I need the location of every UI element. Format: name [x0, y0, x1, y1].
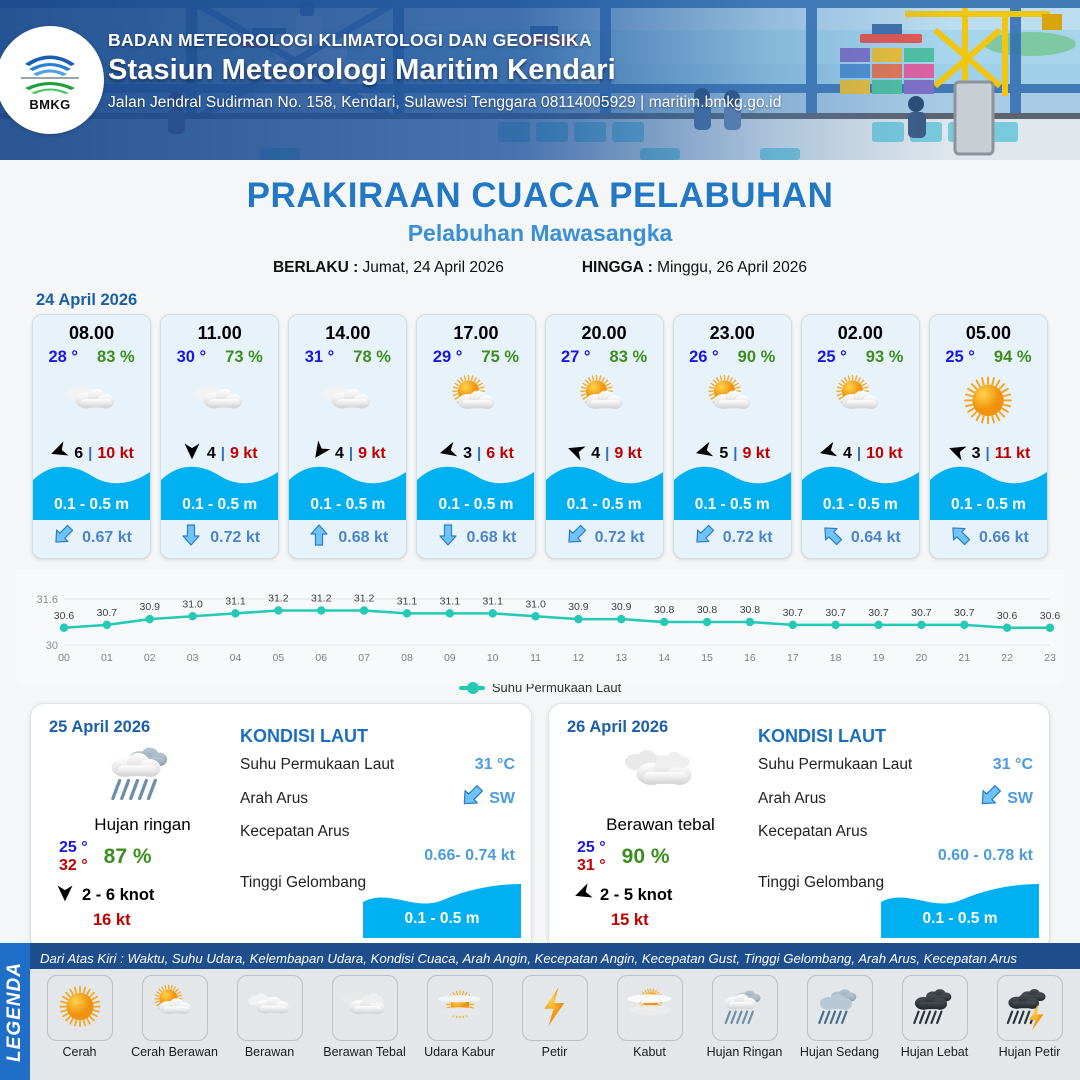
- weather-icon-berawan: [33, 371, 150, 433]
- hourly-card: 02.00 25 ° 93 % 4 | 10 kt 0.1 - 0.5 m 0.…: [801, 314, 920, 559]
- svg-text:30.6: 30.6: [54, 610, 75, 622]
- hourly-card: 20.00 27 ° 83 % 4 | 9 kt 0.1 - 0.5 m 0.7…: [545, 314, 664, 559]
- legend-item: Berawan Tebal: [319, 975, 410, 1059]
- card-time: 23.00: [674, 323, 791, 344]
- wave-label: Tinggi Gelombang: [240, 874, 366, 892]
- current-direction-label: Arah Arus: [240, 790, 308, 808]
- legend-item: Hujan Lebat: [889, 975, 980, 1059]
- svg-text:30.9: 30.9: [140, 601, 161, 613]
- svg-text:31.0: 31.0: [182, 598, 203, 610]
- svg-text:23: 23: [1044, 652, 1056, 664]
- card-humidity: 78 %: [353, 348, 391, 367]
- sst-label: Suhu Permukaan Laut: [240, 756, 394, 774]
- legend-icon-udara-kabur: [427, 975, 493, 1041]
- card-temperature: 27 °: [561, 348, 591, 367]
- card-temp-hum: 29 ° 75 %: [417, 348, 534, 367]
- card-temperature: 25 °: [817, 348, 847, 367]
- current-speed: 0.72 kt: [595, 529, 645, 547]
- legend-side-title: LEGENDA: [4, 962, 26, 1062]
- svg-text:31.2: 31.2: [311, 593, 332, 605]
- current-direction-row: Arah Arus SW: [240, 783, 515, 814]
- svg-text:30.9: 30.9: [568, 601, 589, 613]
- weather-icon-hujan-ringan: [49, 739, 236, 811]
- wind-direction-arrow-icon: [573, 883, 593, 908]
- svg-text:16: 16: [744, 652, 756, 664]
- daily-temps: 25 ° 32 ° 87 %: [49, 839, 236, 875]
- station-address: Jalan Jendral Sudirman No. 158, Kendari,…: [108, 94, 781, 112]
- svg-text:03: 03: [187, 652, 199, 664]
- card-temp-hum: 31 ° 78 %: [289, 348, 406, 367]
- sst-row: Suhu Permukaan Laut 31 °C: [758, 756, 1033, 774]
- legend-footer: LEGENDA Dari Atas Kiri : Waktu, Suhu Uda…: [0, 943, 1080, 1080]
- header-text-block: BADAN METEOROLOGI KLIMATOLOGI DAN GEOFIS…: [108, 30, 781, 112]
- valid-to-value: Minggu, 26 April 2026: [657, 259, 807, 276]
- current-direction-arrow-icon: [692, 523, 716, 552]
- wave-height: 0.1 - 0.5 m: [33, 496, 150, 514]
- svg-text:30.6: 30.6: [1040, 610, 1061, 622]
- card-time: 02.00: [802, 323, 919, 344]
- daily-right: KONDISI LAUT Suhu Permukaan Laut 31 °C A…: [754, 704, 1049, 950]
- legend-item-label: Hujan Petir: [999, 1045, 1061, 1059]
- card-humidity: 83 %: [97, 348, 135, 367]
- bmkg-logo-text: BMKG: [29, 97, 70, 112]
- sst-value: 31 °C: [475, 756, 515, 774]
- legend-item: Cerah Berawan: [129, 975, 220, 1059]
- legend-icon-cerah-berawan: [142, 975, 208, 1041]
- card-current: 0.72 kt: [546, 523, 663, 552]
- svg-text:10: 10: [487, 652, 499, 664]
- current-direction-arrow-icon: [51, 523, 75, 552]
- current-speed: 0.68 kt: [467, 529, 517, 547]
- card-time: 08.00: [33, 323, 150, 344]
- svg-text:11: 11: [530, 652, 541, 664]
- bmkg-logo-mark: [19, 48, 81, 94]
- daily-left: 26 April 2026 Berawan tebal 25 ° 31 ° 90…: [549, 704, 754, 950]
- hourly-card: 14.00 31 ° 78 % 4 | 9 kt 0.1 - 0.5 m 0.6…: [288, 314, 407, 559]
- card-humidity: 83 %: [610, 348, 648, 367]
- card-current: 0.66 kt: [930, 523, 1047, 552]
- legend-item: Hujan Ringan: [699, 975, 790, 1059]
- daily-left: 25 April 2026 Hujan ringan 25 ° 32 ° 87 …: [31, 704, 236, 950]
- svg-text:30.9: 30.9: [611, 601, 632, 613]
- current-direction-value-group: SW: [459, 783, 515, 814]
- card-humidity: 90 %: [738, 348, 776, 367]
- legend-item-label: Berawan: [245, 1045, 294, 1059]
- daily-forecast-panel: 26 April 2026 Berawan tebal 25 ° 31 ° 90…: [548, 703, 1050, 951]
- current-speed: 0.68 kt: [338, 529, 388, 547]
- svg-text:04: 04: [230, 652, 242, 664]
- svg-text:31.2: 31.2: [354, 593, 375, 605]
- page-title: PRAKIRAAN CUACA PELABUHAN: [0, 176, 1080, 216]
- current-direction-arrow-icon: [436, 523, 460, 552]
- daily-gust: 15 kt: [567, 911, 754, 930]
- card-humidity: 75 %: [481, 348, 519, 367]
- daily-temp-min: 25 °: [59, 839, 88, 857]
- current-direction-value: SW: [489, 790, 515, 808]
- hourly-card: 05.00 25 ° 94 % 3 | 11 kt 0.1 - 0.5 m 0.…: [929, 314, 1048, 559]
- svg-text:30.8: 30.8: [697, 604, 718, 616]
- card-temp-hum: 26 ° 90 %: [674, 348, 791, 367]
- wave-height: 0.1 - 0.5 m: [881, 910, 1039, 928]
- hourly-card: 17.00 29 ° 75 % 3 | 6 kt 0.1 - 0.5 m 0.6…: [416, 314, 535, 559]
- svg-text:00: 00: [58, 652, 70, 664]
- svg-text:30.7: 30.7: [868, 607, 889, 619]
- legend-icon-cerah: [47, 975, 113, 1041]
- current-direction-label: Arah Arus: [758, 790, 826, 808]
- legend-icon-hujan-lebat: [902, 975, 968, 1041]
- current-direction-arrow-icon: [179, 523, 203, 552]
- current-direction-arrow-icon: [307, 523, 331, 552]
- svg-text:13: 13: [615, 652, 627, 664]
- daily-date: 25 April 2026: [49, 718, 236, 737]
- svg-text:12: 12: [573, 652, 585, 664]
- legend-item-label: Hujan Lebat: [901, 1045, 968, 1059]
- daily-gust: 16 kt: [49, 911, 236, 930]
- current-direction-value-group: SW: [977, 783, 1033, 814]
- page-subtitle: Pelabuhan Mawasangka: [0, 220, 1080, 247]
- svg-text:31.1: 31.1: [397, 595, 418, 607]
- wave-height: 0.1 - 0.5 m: [417, 496, 534, 514]
- legend-item: Cerah: [34, 975, 125, 1059]
- legend-icon-berawan-tebal: [332, 975, 398, 1041]
- weather-icon-cerah-berawan: [546, 371, 663, 433]
- card-temp-hum: 25 ° 94 %: [930, 348, 1047, 367]
- weather-icon-cerah-berawan: [674, 371, 791, 433]
- card-time: 11.00: [161, 323, 278, 344]
- sst-value: 31 °C: [993, 756, 1033, 774]
- svg-text:19: 19: [873, 652, 885, 664]
- svg-text:01: 01: [101, 652, 113, 664]
- svg-text:06: 06: [315, 652, 327, 664]
- svg-text:05: 05: [273, 652, 285, 664]
- daily-temp-col: 25 ° 32 °: [59, 839, 88, 875]
- sst-chart-svg: 31.63030.60030.70130.90231.00331.10431.2…: [16, 569, 1064, 669]
- wave-height: 0.1 - 0.5 m: [363, 910, 521, 928]
- legend-item-label: Berawan Tebal: [323, 1045, 405, 1059]
- daily-wind-range: 2 - 5 knot: [600, 886, 672, 905]
- card-time: 20.00: [546, 323, 663, 344]
- legend-icon-kabut: [617, 975, 683, 1041]
- wave-height: 0.1 - 0.5 m: [289, 496, 406, 514]
- legend-item-label: Kabut: [633, 1045, 666, 1059]
- daily-wind-range: 2 - 6 knot: [82, 886, 154, 905]
- svg-text:30.7: 30.7: [825, 607, 846, 619]
- daily-forecast-row: 25 April 2026 Hujan ringan 25 ° 32 ° 87 …: [0, 695, 1080, 951]
- card-temperature: 31 °: [305, 348, 335, 367]
- svg-text:09: 09: [444, 652, 456, 664]
- current-speed: 0.66 kt: [979, 529, 1029, 547]
- legend-item-label: Cerah: [62, 1045, 96, 1059]
- wave-height: 0.1 - 0.5 m: [802, 496, 919, 514]
- title-section: PRAKIRAAN CUACA PELABUHAN Pelabuhan Mawa…: [0, 160, 1080, 277]
- legend-icon-hujan-ringan: [712, 975, 778, 1041]
- legend-item: Berawan: [224, 975, 315, 1059]
- sst-row: Suhu Permukaan Laut 31 °C: [240, 756, 515, 774]
- svg-text:31.1: 31.1: [482, 595, 503, 607]
- legend-side-bar: LEGENDA: [0, 943, 30, 1080]
- daily-temp-max: 32 °: [59, 857, 88, 875]
- wind-direction-arrow-icon: [55, 883, 75, 908]
- current-speed-row: Kecepatan Arus: [758, 823, 1033, 841]
- card-temperature: 26 °: [689, 348, 719, 367]
- daily-condition: Hujan ringan: [49, 815, 236, 835]
- svg-text:17: 17: [787, 652, 799, 664]
- legend-items: Cerah Cerah Berawan Berawan Berawan Teba…: [34, 975, 1080, 1059]
- sst-chart: 31.63030.60030.70130.90231.00331.10431.2…: [16, 569, 1064, 684]
- agency-name: BADAN METEOROLOGI KLIMATOLOGI DAN GEOFIS…: [108, 30, 781, 51]
- card-current: 0.68 kt: [289, 523, 406, 552]
- current-speed-value: 0.66- 0.74 kt: [240, 847, 515, 865]
- sea-condition-heading: KONDISI LAUT: [758, 726, 1033, 747]
- sst-label: Suhu Permukaan Laut: [758, 756, 912, 774]
- svg-text:30.8: 30.8: [740, 604, 761, 616]
- weather-icon-cerah-berawan: [417, 371, 534, 433]
- current-speed-label: Kecepatan Arus: [240, 823, 349, 841]
- wave-height: 0.1 - 0.5 m: [546, 496, 663, 514]
- card-temp-hum: 25 ° 93 %: [802, 348, 919, 367]
- daily-temp-col: 25 ° 31 °: [577, 839, 606, 875]
- valid-to-label: HINGGA :: [582, 259, 653, 276]
- current-direction-arrow-icon: [564, 523, 588, 552]
- sea-condition-heading: KONDISI LAUT: [240, 726, 515, 747]
- current-speed: 0.72 kt: [723, 529, 773, 547]
- card-temperature: 25 °: [945, 348, 975, 367]
- card-humidity: 94 %: [994, 348, 1032, 367]
- daily-temp-min: 25 °: [577, 839, 606, 857]
- current-direction-arrow-icon: [977, 783, 1003, 814]
- current-direction-arrow-icon: [948, 523, 972, 552]
- station-name: Stasiun Meteorologi Maritim Kendari: [108, 54, 781, 87]
- daily-wind: 2 - 5 knot: [567, 883, 754, 908]
- card-time: 14.00: [289, 323, 406, 344]
- current-direction-value: SW: [1007, 790, 1033, 808]
- card-current: 0.72 kt: [674, 523, 791, 552]
- card-temperature: 29 °: [433, 348, 463, 367]
- current-speed-value: 0.60 - 0.78 kt: [758, 847, 1033, 865]
- current-speed-row: Kecepatan Arus: [240, 823, 515, 841]
- wave-height: 0.1 - 0.5 m: [674, 496, 791, 514]
- card-current: 0.64 kt: [802, 523, 919, 552]
- card-temperature: 28 °: [48, 348, 78, 367]
- weather-icon-berawan: [289, 371, 406, 433]
- hourly-forecast-row: 08.00 28 ° 83 % 6 | 10 kt 0.1 - 0.5 m 0.…: [0, 314, 1080, 559]
- svg-text:31.1: 31.1: [225, 595, 246, 607]
- card-time: 17.00: [417, 323, 534, 344]
- card-current: 0.72 kt: [161, 523, 278, 552]
- daily-forecast-panel: 25 April 2026 Hujan ringan 25 ° 32 ° 87 …: [30, 703, 532, 951]
- weather-icon-cerah-berawan: [802, 371, 919, 433]
- svg-text:30: 30: [46, 640, 58, 652]
- daily-temps: 25 ° 31 ° 90 %: [567, 839, 754, 875]
- daily-temp-max: 31 °: [577, 857, 606, 875]
- legend-item-label: Udara Kabur: [424, 1045, 495, 1059]
- svg-text:31.1: 31.1: [440, 595, 461, 607]
- svg-text:08: 08: [401, 652, 413, 664]
- hourly-date-label: 24 April 2026: [36, 291, 1080, 310]
- legend-icon-berawan: [237, 975, 303, 1041]
- card-humidity: 73 %: [225, 348, 263, 367]
- hourly-card: 23.00 26 ° 90 % 5 | 9 kt 0.1 - 0.5 m 0.7…: [673, 314, 792, 559]
- legend-note: Dari Atas Kiri : Waktu, Suhu Udara, Kele…: [40, 951, 1074, 966]
- card-current: 0.68 kt: [417, 523, 534, 552]
- valid-from-value: Jumat, 24 April 2026: [363, 259, 504, 276]
- valid-to: HINGGA : Minggu, 26 April 2026: [582, 259, 807, 277]
- svg-text:07: 07: [358, 652, 370, 664]
- legend-item: Hujan Petir: [984, 975, 1075, 1059]
- current-speed-label: Kecepatan Arus: [758, 823, 867, 841]
- svg-text:02: 02: [144, 652, 156, 664]
- wave-height: 0.1 - 0.5 m: [161, 496, 278, 514]
- legend-icon-petir: [522, 975, 588, 1041]
- valid-from-label: BERLAKU :: [273, 259, 358, 276]
- card-temp-hum: 27 ° 83 %: [546, 348, 663, 367]
- card-current: 0.67 kt: [33, 523, 150, 552]
- svg-text:30.7: 30.7: [911, 607, 932, 619]
- chart-legend-marker: [459, 686, 485, 690]
- card-humidity: 93 %: [866, 348, 904, 367]
- wave-label: Tinggi Gelombang: [758, 874, 884, 892]
- daily-date: 26 April 2026: [567, 718, 754, 737]
- svg-text:30.7: 30.7: [783, 607, 804, 619]
- card-temperature: 30 °: [177, 348, 207, 367]
- card-temp-hum: 30 ° 73 %: [161, 348, 278, 367]
- svg-text:30.7: 30.7: [97, 607, 118, 619]
- daily-humidity: 90 %: [622, 845, 670, 869]
- hourly-card: 11.00 30 ° 73 % 4 | 9 kt 0.1 - 0.5 m 0.7…: [160, 314, 279, 559]
- weather-icon-cerah: [930, 371, 1047, 433]
- validity-row: BERLAKU : Jumat, 24 April 2026 HINGGA : …: [0, 259, 1080, 277]
- legend-icon-hujan-petir: [997, 975, 1063, 1041]
- legend-item: Udara Kabur: [414, 975, 505, 1059]
- current-speed: 0.67 kt: [82, 529, 132, 547]
- legend-item-label: Hujan Sedang: [800, 1045, 879, 1059]
- svg-text:18: 18: [830, 652, 842, 664]
- svg-text:22: 22: [1001, 652, 1013, 664]
- current-speed: 0.72 kt: [210, 529, 260, 547]
- card-time: 05.00: [930, 323, 1047, 344]
- svg-text:31.0: 31.0: [525, 598, 546, 610]
- svg-text:14: 14: [658, 652, 670, 664]
- legend-item-label: Petir: [542, 1045, 568, 1059]
- wave-height: 0.1 - 0.5 m: [930, 496, 1047, 514]
- daily-wind: 2 - 6 knot: [49, 883, 236, 908]
- hourly-card: 08.00 28 ° 83 % 6 | 10 kt 0.1 - 0.5 m 0.…: [32, 314, 151, 559]
- svg-text:20: 20: [916, 652, 928, 664]
- legend-icon-hujan-sedang: [807, 975, 873, 1041]
- daily-right: KONDISI LAUT Suhu Permukaan Laut 31 °C A…: [236, 704, 531, 950]
- bmkg-logo: BMKG: [0, 26, 104, 134]
- daily-condition: Berawan tebal: [567, 815, 754, 835]
- legend-item-label: Hujan Ringan: [707, 1045, 783, 1059]
- card-temp-hum: 28 ° 83 %: [33, 348, 150, 367]
- svg-text:15: 15: [701, 652, 713, 664]
- svg-text:31.6: 31.6: [37, 594, 58, 606]
- weather-icon-berawan: [161, 371, 278, 433]
- current-direction-row: Arah Arus SW: [758, 783, 1033, 814]
- svg-text:31.2: 31.2: [268, 593, 289, 605]
- svg-text:30.6: 30.6: [997, 610, 1018, 622]
- svg-text:30.7: 30.7: [954, 607, 975, 619]
- legend-item-label: Cerah Berawan: [131, 1045, 218, 1059]
- legend-item: Petir: [509, 975, 600, 1059]
- current-direction-arrow-icon: [459, 783, 485, 814]
- current-direction-arrow-icon: [820, 523, 844, 552]
- daily-humidity: 87 %: [104, 845, 152, 869]
- valid-from: BERLAKU : Jumat, 24 April 2026: [273, 259, 504, 277]
- svg-text:21: 21: [958, 652, 970, 664]
- svg-text:30.8: 30.8: [654, 604, 675, 616]
- current-speed: 0.64 kt: [851, 529, 901, 547]
- page-header: BMKG BADAN METEOROLOGI KLIMATOLOGI DAN G…: [0, 0, 1080, 160]
- legend-item: Hujan Sedang: [794, 975, 885, 1059]
- weather-icon-berawan-tebal: [567, 739, 754, 811]
- legend-item: Kabut: [604, 975, 695, 1059]
